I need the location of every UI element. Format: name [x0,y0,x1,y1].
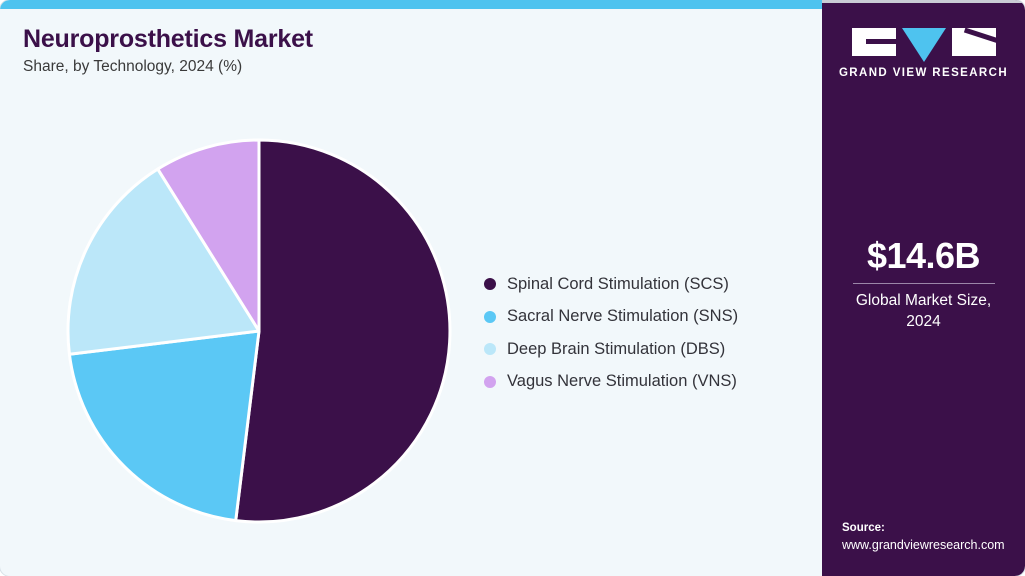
chart-header: Neuroprosthetics Market Share, by Techno… [23,25,743,76]
legend-swatch-dbs [484,343,496,355]
logo-r-icon [952,28,996,56]
logo-v-triangle-icon [902,28,946,62]
legend-item-dbs[interactable]: Deep Brain Stimulation (DBS) [484,333,738,366]
panel-top-edge [822,0,1025,3]
pie-chart-svg [64,136,454,526]
chart-subtitle: Share, by Technology, 2024 (%) [23,58,743,77]
logo-marks [822,28,1025,60]
market-size-stat: $14.6B Global Market Size, 2024 [822,237,1025,333]
legend-label-scs: Spinal Cord Stimulation (SCS) [507,275,729,294]
legend-swatch-scs [484,278,496,290]
market-size-value: $14.6B [822,237,1025,275]
brand-logo: GRAND VIEW RESEARCH [822,28,1025,79]
top-accent-bar [0,0,825,9]
source-block: Source: www.grandviewresearch.com [842,520,1025,554]
pie-slice[interactable] [236,140,450,522]
source-label: Source: [842,520,1025,537]
source-url[interactable]: www.grandviewresearch.com [842,537,1025,554]
legend-swatch-sns [484,311,496,323]
pie-slice[interactable] [69,331,259,521]
logo-wordmark: GRAND VIEW RESEARCH [822,67,1025,79]
stat-divider [853,283,995,284]
chart-card: Neuroprosthetics Market Share, by Techno… [0,0,1025,576]
legend-label-dbs: Deep Brain Stimulation (DBS) [507,340,725,359]
legend-item-sns[interactable]: Sacral Nerve Stimulation (SNS) [484,301,738,334]
legend-label-sns: Sacral Nerve Stimulation (SNS) [507,307,738,326]
legend-item-scs[interactable]: Spinal Cord Stimulation (SCS) [484,268,738,301]
legend-item-vns[interactable]: Vagus Nerve Stimulation (VNS) [484,366,738,399]
chart-title: Neuroprosthetics Market [23,25,743,54]
market-size-caption: Global Market Size, 2024 [822,291,1025,333]
infographic-root: Neuroprosthetics Market Share, by Techno… [0,0,1025,576]
pie-chart [64,136,454,526]
logo-g-icon [852,28,896,56]
pie-slice-group [68,140,450,522]
chart-legend: Spinal Cord Stimulation (SCS) Sacral Ner… [484,268,738,398]
side-panel: GRAND VIEW RESEARCH $14.6B Global Market… [822,0,1025,576]
legend-label-vns: Vagus Nerve Stimulation (VNS) [507,372,737,391]
legend-swatch-vns [484,376,496,388]
